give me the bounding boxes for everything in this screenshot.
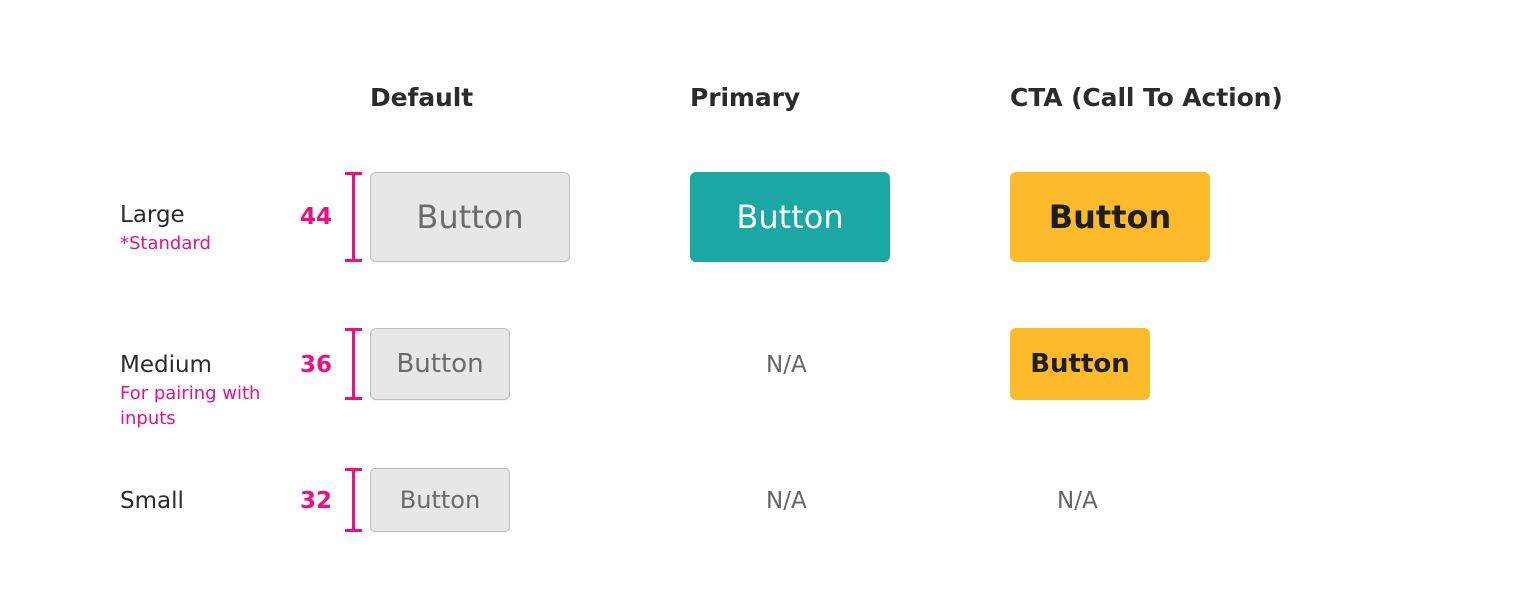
button-cta-medium[interactable]: Button [1010,328,1150,400]
measurement-bracket-large [345,172,362,262]
button-spec-board: Default Primary CTA (Call To Action) Lar… [0,0,1520,612]
measurement-value-small: 32 [288,488,332,514]
button-primary-large[interactable]: Button [690,172,890,262]
bracket-stem-icon [352,172,355,262]
column-header-cta: CTA (Call To Action) [1010,83,1283,112]
row-label-small-name: Small [120,487,290,515]
row-label-large: Large *Standard [120,201,290,256]
cell-cta-small-na: N/A [1057,488,1098,514]
button-default-small[interactable]: Button [370,468,510,532]
row-label-medium-note: For pairing with inputs [120,381,290,431]
bracket-cap-bottom-icon [345,397,362,400]
bracket-stem-icon [352,328,355,400]
bracket-cap-bottom-icon [345,259,362,262]
column-header-default: Default [370,83,473,112]
bracket-stem-icon [352,468,355,532]
bracket-cap-bottom-icon [345,529,362,532]
column-header-primary: Primary [690,83,800,112]
cell-primary-medium-na: N/A [766,352,807,378]
button-default-medium[interactable]: Button [370,328,510,400]
measurement-bracket-medium [345,328,362,400]
row-label-large-note: *Standard [120,231,290,256]
measurement-value-medium: 36 [288,352,332,378]
row-label-large-name: Large [120,201,290,229]
cell-primary-small-na: N/A [766,488,807,514]
button-default-large[interactable]: Button [370,172,570,262]
row-label-small: Small [120,487,290,517]
measurement-bracket-small [345,468,362,532]
row-label-medium: Medium For pairing with inputs [120,351,290,431]
row-label-medium-name: Medium [120,351,290,379]
button-cta-large[interactable]: Button [1010,172,1210,262]
measurement-value-large: 44 [288,204,332,230]
